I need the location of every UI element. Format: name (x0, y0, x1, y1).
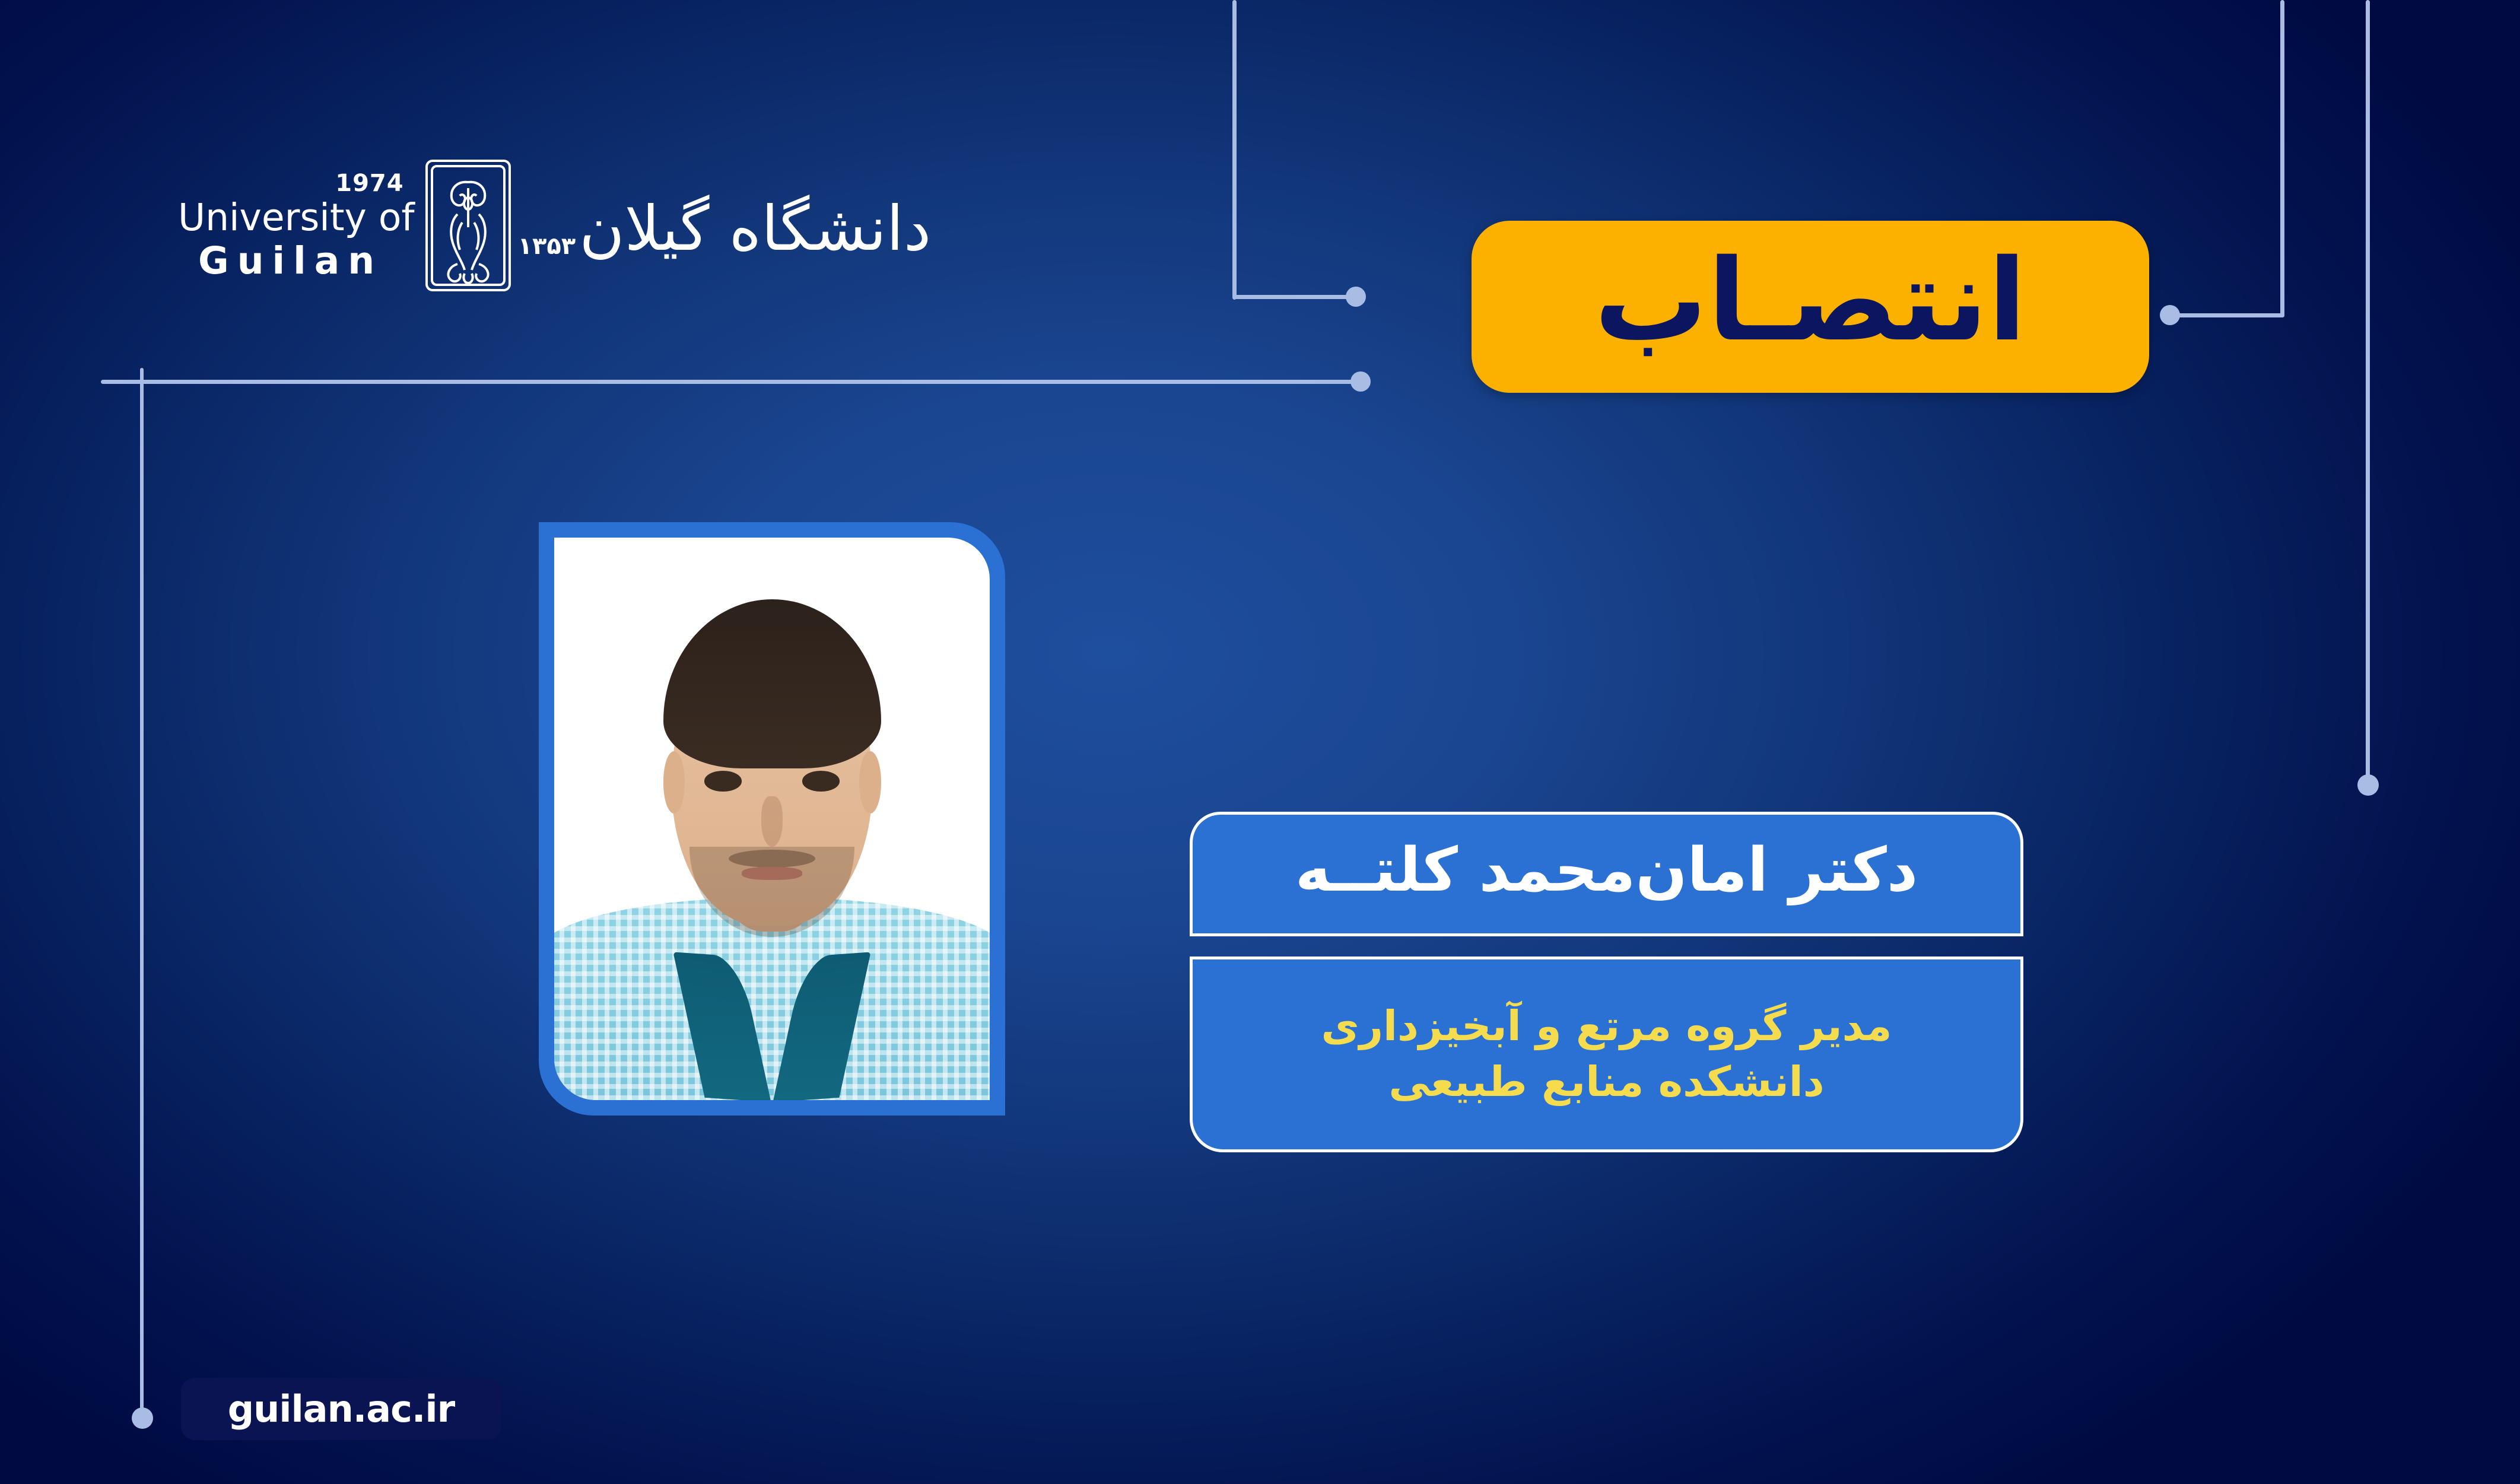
decor-line-vertical-badge-right (2280, 0, 2284, 317)
decor-line-horizontal-badge-left (1234, 295, 1353, 299)
portrait-eye-right (802, 771, 839, 791)
decor-dot-bottom-left-end (132, 1407, 153, 1429)
portrait-ear-left (663, 751, 685, 813)
person-title-line-2: دانشکده منابع طبیعی (1388, 1054, 1824, 1110)
decor-dot-right-edge (2357, 774, 2379, 796)
university-logo: 1974 University of Guilan ۱۳۵۳ دانشگاه گ… (178, 151, 931, 300)
portrait-ear-right (859, 751, 881, 813)
portrait-mouth (742, 867, 803, 881)
website-badge[interactable]: guilan.ac.ir (181, 1378, 501, 1440)
person-title-line-1: مدیر گروه مرتع و آبخیزداری (1321, 999, 1892, 1054)
decor-line-vertical-right-edge (2366, 0, 2370, 780)
logo-name-en-line1: University of (178, 199, 415, 236)
decor-line-horizontal-top-left (101, 380, 1353, 384)
decor-dot-top-left-end (1350, 371, 1371, 392)
decor-dot-badge-right (2160, 305, 2180, 325)
person-name-plate: دکتر امان‌محمد کلتــه (1190, 812, 2023, 936)
portrait-eye-left (704, 771, 741, 791)
person-title-plate: مدیر گروه مرتع و آبخیزداری دانشکده منابع… (1190, 957, 2023, 1152)
appointment-badge: انتصـاب (1472, 221, 2149, 393)
logo-year-gregorian: 1974 (335, 171, 403, 195)
logo-name-en-line2: Guilan (198, 242, 415, 279)
appointment-badge-label: انتصـاب (1594, 244, 2026, 357)
decor-dot-badge-left (1346, 287, 1366, 307)
portrait-hair (663, 599, 881, 768)
poster-canvas: 1974 University of Guilan ۱۳۵۳ دانشگاه گ… (0, 0, 2520, 1484)
logo-name-fa: دانشگاه گیلان (579, 189, 931, 269)
decor-line-horizontal-badge-right (2169, 313, 2284, 317)
person-name: دکتر امان‌محمد کلتــه (1295, 840, 1918, 901)
guilan-university-emblem-icon (421, 157, 516, 294)
university-logo-english: 1974 University of Guilan (178, 171, 415, 279)
website-url: guilan.ac.ir (228, 1387, 455, 1431)
portrait-frame (539, 522, 1005, 1116)
decor-line-vertical-left (140, 368, 144, 1415)
decor-line-vertical-badge-left (1232, 0, 1237, 300)
logo-year-persian: ۱۳۵۳ (518, 233, 576, 260)
university-logo-persian: ۱۳۵۳ دانشگاه گیلان (518, 176, 932, 269)
portrait-photo (554, 538, 990, 1100)
